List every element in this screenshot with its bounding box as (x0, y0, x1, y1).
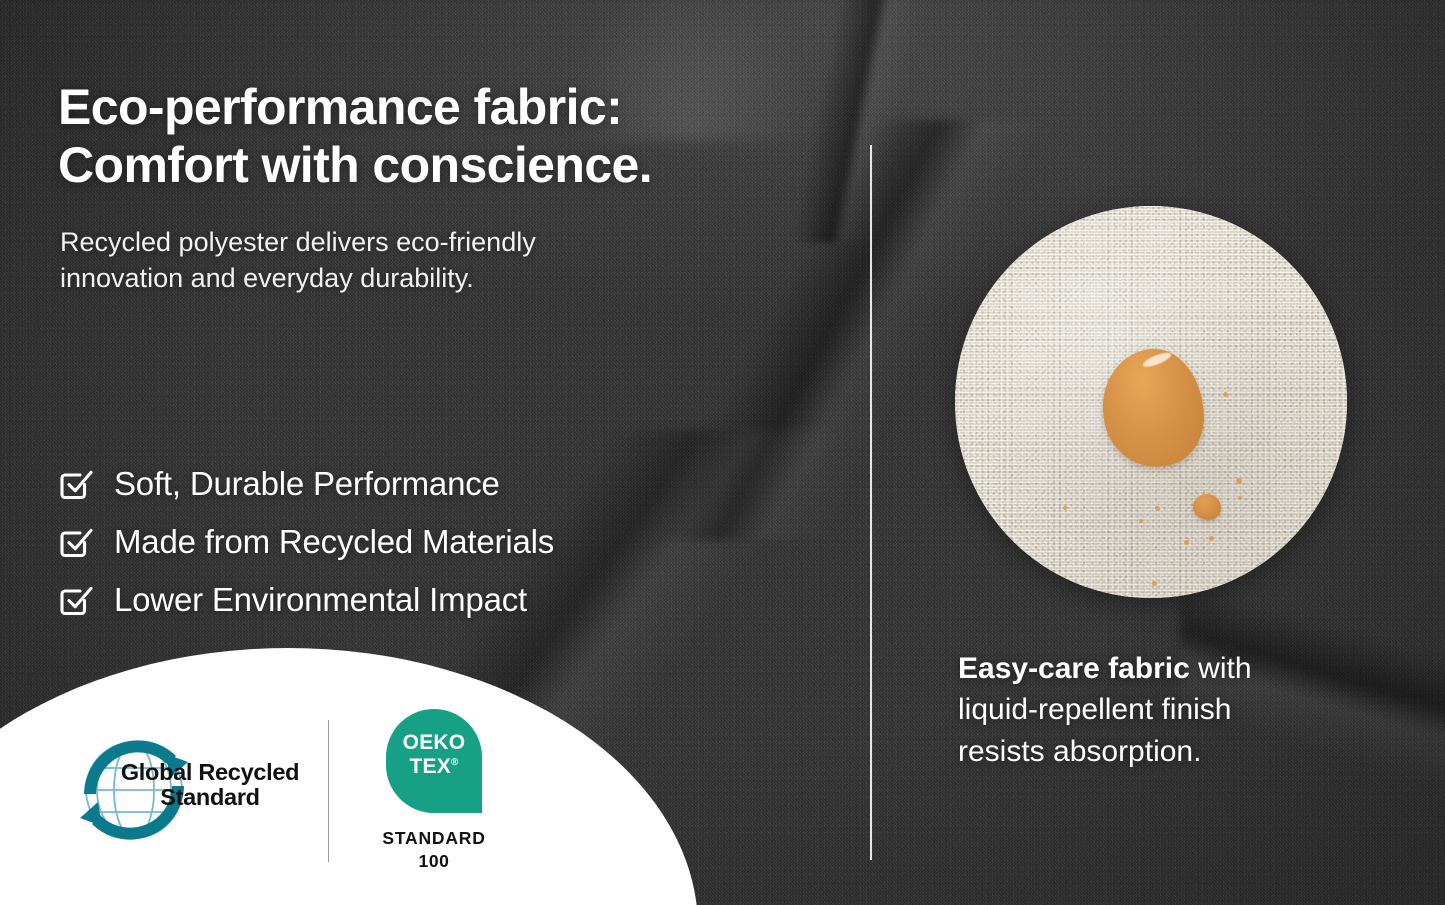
oeko-tex-standard-label: STANDARD 100 (359, 827, 509, 873)
oeko-tex-badge: OEKO TEX® STANDARD 100 (359, 709, 509, 873)
caption-line-2: liquid-repellent finish (958, 689, 1408, 730)
caption-bold-text: Easy-care fabric (958, 652, 1190, 685)
swatch-caption: Easy-care fabric with liquid-repellent f… (958, 648, 1408, 772)
grs-label-line-1: Global Recycled (121, 759, 299, 785)
subheadline-line-2: innovation and everyday durability. (60, 261, 700, 297)
global-recycled-standard-badge: Global Recycled Standard (62, 732, 304, 850)
certification-badges: Global Recycled Standard OEKO TEX® STAND… (62, 716, 482, 866)
fabric-swatch-liquid-drop-icon (955, 206, 1347, 598)
liquid-speck (1152, 581, 1157, 586)
caption-line-1-rest: with (1190, 652, 1252, 685)
registered-trademark-icon: ® (451, 757, 459, 768)
checklist-item-label: Lower Environmental Impact (114, 583, 527, 616)
subheadline-line-1: Recycled polyester delivers eco-friendly (60, 227, 536, 257)
oeko-standard-line-1: STANDARD (382, 828, 485, 848)
grs-label: Global Recycled Standard (114, 760, 306, 811)
page-subheadline: Recycled polyester delivers eco-friendly… (60, 225, 700, 297)
oeko-mark-line-2: TEX® (386, 755, 482, 779)
liquid-speck (1238, 496, 1242, 500)
oeko-mark-line-1: OEKO (403, 731, 466, 754)
page-headline: Eco-performance fabric: Comfort with con… (58, 78, 848, 194)
infographic-canvas: Eco-performance fabric: Comfort with con… (0, 0, 1445, 905)
feature-checklist: Soft, Durable Performance Made from Recy… (58, 455, 758, 629)
badge-divider (328, 720, 329, 862)
checkbox-check-icon (58, 583, 92, 617)
oeko-standard-line-2: 100 (359, 850, 509, 873)
liquid-speck (1236, 478, 1242, 484)
checkbox-check-icon (58, 467, 92, 501)
liquid-speck (1255, 582, 1259, 586)
liquid-droplet-small (1193, 494, 1221, 520)
liquid-speck (1063, 506, 1067, 510)
vertical-divider (870, 145, 872, 860)
oeko-mark-tex-text: TEX (409, 755, 450, 778)
checklist-item-label: Made from Recycled Materials (114, 525, 554, 558)
list-item: Lower Environmental Impact (58, 571, 758, 627)
liquid-speck (1155, 506, 1160, 511)
oeko-tex-droplet-icon: OEKO TEX® (386, 709, 482, 813)
checkbox-check-icon (58, 525, 92, 559)
caption-line-3: resists absorption. (958, 731, 1408, 772)
liquid-speck (1139, 519, 1143, 523)
list-item: Made from Recycled Materials (58, 513, 758, 569)
liquid-speck (1209, 536, 1214, 541)
liquid-speck (1184, 540, 1189, 545)
liquid-speck (1223, 392, 1228, 397)
headline-line-1: Eco-performance fabric: (58, 79, 622, 135)
oeko-tex-mark-label: OEKO TEX® (386, 731, 482, 780)
checklist-item-label: Soft, Durable Performance (114, 467, 500, 500)
headline-line-2: Comfort with conscience. (58, 136, 848, 194)
grs-label-line-2: Standard (114, 785, 306, 810)
list-item: Soft, Durable Performance (58, 455, 758, 511)
